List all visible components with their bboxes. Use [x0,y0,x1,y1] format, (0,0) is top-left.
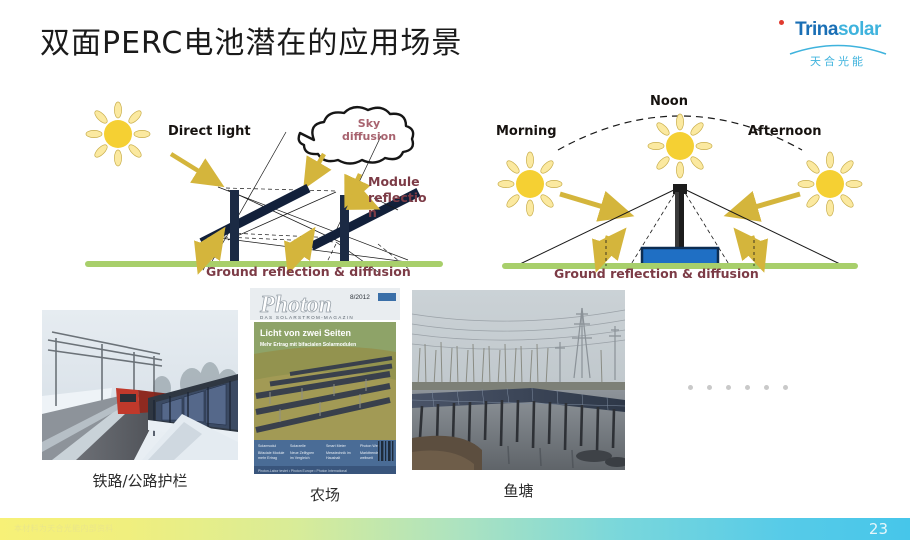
svg-text:im Vergleich: im Vergleich [290,456,310,460]
direct-light-arrow-icon [171,154,213,180]
sun-afternoon-icon [798,152,862,216]
label-ground-reflection-right: Ground reflection & diffusion [554,266,759,281]
vertical-bifacial-svg [480,88,880,284]
magazine-tagline: DAS SOLARSTROM-MAGAZIN [260,315,354,320]
module-reflection-arrows [350,174,368,204]
module-post-right [340,195,349,263]
ellipsis-dot [764,385,769,390]
logo-accent-dot-icon [779,20,784,25]
logo-brand-second: solar [838,19,881,40]
ellipsis-dot [707,385,712,390]
caption-farm: 农场 [250,484,400,505]
magazine-headline: Licht von zwei Seiten [260,328,351,338]
sun-morning-icon [498,152,562,216]
caption-fish-pond: 鱼塘 [412,480,625,501]
page-number: 23 [869,520,888,538]
svg-text:Bifaciale Module: Bifaciale Module [258,451,284,455]
ground-reflection-arrows-right [742,236,760,260]
page-title: 双面PERC电池潜在的应用场景 [40,18,462,62]
svg-text:Markttrends: Markttrends [360,451,379,455]
afternoon-ray-arrow-icon [738,194,800,212]
photo-block-fish-pond: 鱼塘 [412,290,625,501]
sun-icon [86,102,150,166]
svg-text:Photon-Labor testet • Photon E: Photon-Labor testet • Photon Europe • Ph… [258,469,347,473]
label-module-reflection-line3: n [368,205,377,220]
logo-chinese-name: 天合光能 [784,56,892,67]
diagram-vertical-bifacial-daily-path: Morning Noon Afternoon Ground reflection… [480,88,880,284]
ellipsis-dot [726,385,731,390]
svg-text:Smart Meter: Smart Meter [326,444,347,448]
footer-note: 本材料为天合光能内部资料 [14,523,114,534]
ellipsis-dot [688,385,693,390]
svg-text:Solarzelle: Solarzelle [290,444,306,448]
photo-fish-pond [412,290,625,470]
photo-railway-guardrail [42,310,238,460]
logo-wordmark: Trinasolar [784,20,892,39]
label-module-reflection-line2: reflectio [368,190,427,205]
sky-diffusion-arrow-icon [310,154,324,178]
label-afternoon: Afternoon [748,124,822,139]
svg-text:Photon Welt: Photon Welt [360,444,380,448]
label-sky-diffusion-line1: Sky [358,117,380,130]
magazine-subhead: Mehr Ertrag mit bifacialen Solarmodulen [260,342,356,348]
label-module-reflection: Module reflectio n [368,174,440,221]
trina-solar-logo: Trinasolar 天合光能 [784,20,892,78]
sun-noon-icon [648,114,712,178]
ground-reflection-arrows-right [292,238,308,262]
logo-brand-first: Trina [795,19,838,40]
label-module-reflection-line1: Module [368,174,420,189]
morning-ray-arrow-icon [560,194,620,212]
svg-text:Messtechnik im: Messtechnik im [326,451,351,455]
ellipsis-dot [783,385,788,390]
footer-bar: 本材料为天合光能内部资料 23 [0,518,910,540]
label-ground-reflection-left: Ground reflection & diffusion [206,264,411,279]
svg-text:Solarmodul: Solarmodul [258,444,276,448]
label-direct-light: Direct light [168,124,251,139]
label-sky-diffusion: Sky diffusion [332,118,406,143]
caption-railway-guardrail: 铁路/公路护栏 [42,470,238,491]
ellipsis-dots [688,385,788,390]
ground-reflection-arrows-left [600,236,618,260]
label-noon: Noon [650,94,688,109]
label-morning: Morning [496,124,557,139]
magazine-issue: 8/2012 [350,294,370,301]
svg-text:Neue Zelltypen: Neue Zelltypen [290,451,314,455]
label-sky-diffusion-line2: diffusion [342,130,396,143]
module-post-left [230,190,239,262]
photo-photon-magazine-cover: Photon 8/2012 DAS SOLARSTROM-MAGAZIN [250,288,400,478]
photo-block-photon-magazine: Photon 8/2012 DAS SOLARSTROM-MAGAZIN [250,288,400,505]
svg-text:Haushalt: Haushalt [326,456,340,460]
diagram-tilted-bifacial-irradiance: Direct light Sky diffusion Module reflec… [78,92,448,282]
svg-text:weltweit: weltweit [360,456,373,460]
slide-root: 双面PERC电池潜在的应用场景 Trinasolar 天合光能 [0,0,910,540]
logo-swoosh-icon [788,40,888,56]
svg-text:mehr Ertrag: mehr Ertrag [258,456,277,460]
photo-block-railway-guardrail: 铁路/公路护栏 [42,310,238,491]
ellipsis-dot [745,385,750,390]
